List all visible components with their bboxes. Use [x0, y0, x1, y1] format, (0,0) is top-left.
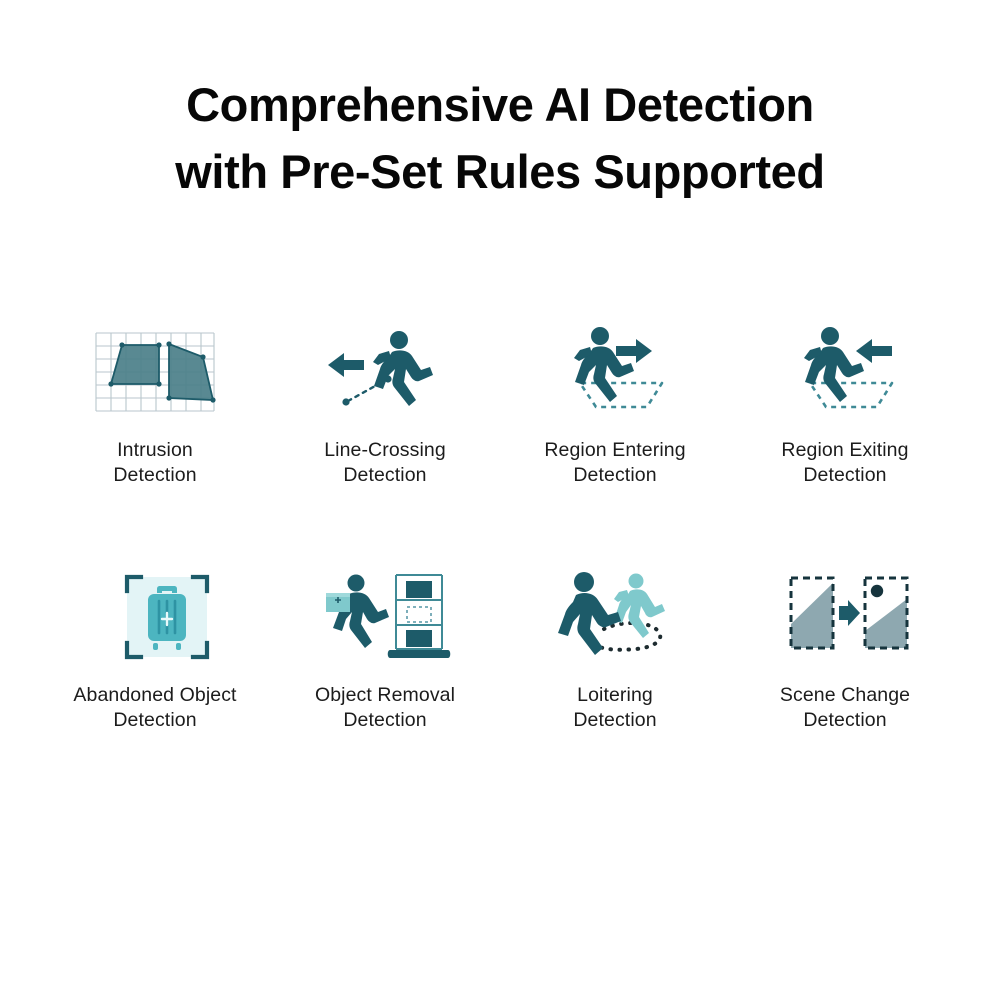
- feature-row-2: Abandoned Object Detection: [40, 565, 960, 733]
- grid-polygons-icon: [90, 320, 220, 424]
- page-title: Comprehensive AI Detection with Pre-Set …: [0, 72, 1000, 205]
- person-entering-region-icon: [550, 320, 680, 424]
- page-title-line-2: with Pre-Set Rules Supported: [0, 139, 1000, 206]
- feature-label-loitering-detection: Loitering Detection: [573, 683, 656, 733]
- page-title-line-1: Comprehensive AI Detection: [0, 72, 1000, 139]
- person-exiting-region-icon: [780, 320, 910, 424]
- feature-label-line-crossing-detection: Line-Crossing Detection: [324, 438, 446, 488]
- feature-row-1: Intrusion Detection: [40, 320, 960, 488]
- person-crossing-line-icon: [320, 320, 450, 424]
- feature-item-intrusion-detection[interactable]: Intrusion Detection: [40, 320, 270, 488]
- feature-item-region-entering-detection[interactable]: Region Entering Detection: [500, 320, 730, 488]
- two-panels-arrow-icon: [780, 565, 910, 669]
- feature-item-abandoned-object-detection[interactable]: Abandoned Object Detection: [40, 565, 270, 733]
- feature-label-region-exiting-detection: Region Exiting Detection: [781, 438, 908, 488]
- feature-label-scene-change-detection: Scene Change Detection: [780, 683, 910, 733]
- feature-poster: Comprehensive AI Detection with Pre-Set …: [0, 0, 1000, 1000]
- feature-label-intrusion-detection: Intrusion Detection: [113, 438, 196, 488]
- feature-grid: Intrusion Detection: [40, 320, 960, 733]
- feature-label-object-removal-detection: Object Removal Detection: [315, 683, 455, 733]
- feature-item-loitering-detection[interactable]: Loitering Detection: [500, 565, 730, 733]
- person-ghost-trail-icon: [550, 565, 680, 669]
- person-carrying-box-shelf-icon: [320, 565, 450, 669]
- feature-item-scene-change-detection[interactable]: Scene Change Detection: [730, 565, 960, 733]
- feature-label-region-entering-detection: Region Entering Detection: [544, 438, 685, 488]
- feature-item-line-crossing-detection[interactable]: Line-Crossing Detection: [270, 320, 500, 488]
- feature-item-object-removal-detection[interactable]: Object Removal Detection: [270, 565, 500, 733]
- suitcase-bracket-icon: [90, 565, 220, 669]
- feature-label-abandoned-object-detection: Abandoned Object Detection: [73, 683, 236, 733]
- feature-item-region-exiting-detection[interactable]: Region Exiting Detection: [730, 320, 960, 488]
